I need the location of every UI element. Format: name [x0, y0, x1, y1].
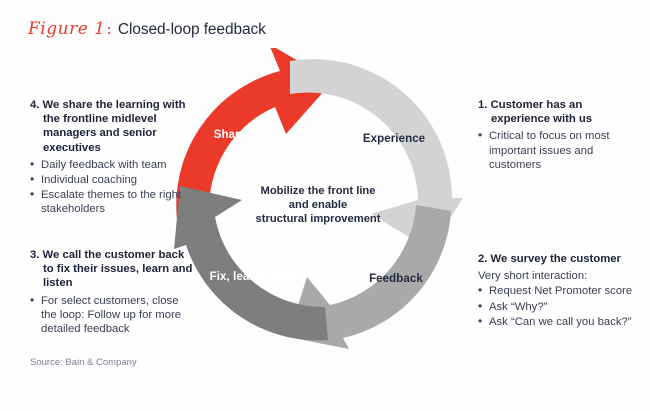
callout-4-bullets: Daily feedback with team Individual coac… — [30, 158, 190, 217]
callout-step-4: 4. We share the learning with the frontl… — [30, 98, 190, 218]
list-item: Ask “Why?” — [478, 300, 646, 314]
list-item: Request Net Promoter score — [478, 284, 646, 298]
cycle-center-text: Mobilize the front line and enable struc… — [256, 185, 381, 225]
closed-loop-cycle-diagram: Share Experience Feedback Fix, learn, li… — [168, 48, 468, 353]
figure-page: Figure 1:Closed-loop feedback Share Expe… — [0, 0, 650, 411]
source-note: Source: Bain & Company — [30, 357, 137, 368]
center-line-3: structural improvement — [256, 213, 381, 225]
list-item: Critical to focus on most important issu… — [478, 129, 638, 172]
center-line-1: Mobilize the front line — [261, 185, 376, 197]
callout-step-3: 3. We call the customer back to fix thei… — [30, 248, 195, 337]
figure-colon: : — [106, 19, 111, 38]
callout-step-1: 1. Customer has an experience with us Cr… — [478, 98, 638, 173]
page-title: Figure 1:Closed-loop feedback — [28, 19, 266, 39]
list-item: Escalate themes to the right stakeholder… — [30, 188, 190, 216]
callout-2-bullets: Request Net Promoter score Ask “Why?” As… — [478, 284, 646, 329]
list-item: Daily feedback with team — [30, 158, 190, 172]
list-item: Individual coaching — [30, 173, 190, 187]
fix-learn-listen-label: Fix, learn, listen — [210, 271, 299, 283]
callout-1-bullets: Critical to focus on most important issu… — [478, 129, 638, 172]
feedback-label: Feedback — [369, 273, 423, 285]
callout-4-heading: 4. We share the learning with the frontl… — [30, 98, 190, 155]
callout-3-heading: 3. We call the customer back to fix thei… — [30, 248, 195, 291]
callout-2-heading: 2. We survey the customer — [478, 252, 646, 266]
callout-step-2: 2. We survey the customer Very short int… — [478, 252, 646, 330]
callout-1-heading: 1. Customer has an experience with us — [478, 98, 638, 126]
experience-label: Experience — [363, 133, 425, 145]
share-label: Share — [214, 129, 246, 141]
list-item: For select customers, close the loop: Fo… — [30, 294, 195, 337]
figure-title-text: Closed-loop feedback — [118, 21, 266, 38]
callout-3-bullets: For select customers, close the loop: Fo… — [30, 294, 195, 337]
list-item: Ask “Can we call you back?” — [478, 315, 646, 329]
callout-2-subtitle: Very short interaction: — [478, 269, 646, 283]
center-line-2: and enable — [289, 199, 347, 211]
figure-number-label: Figure 1 — [28, 19, 105, 39]
